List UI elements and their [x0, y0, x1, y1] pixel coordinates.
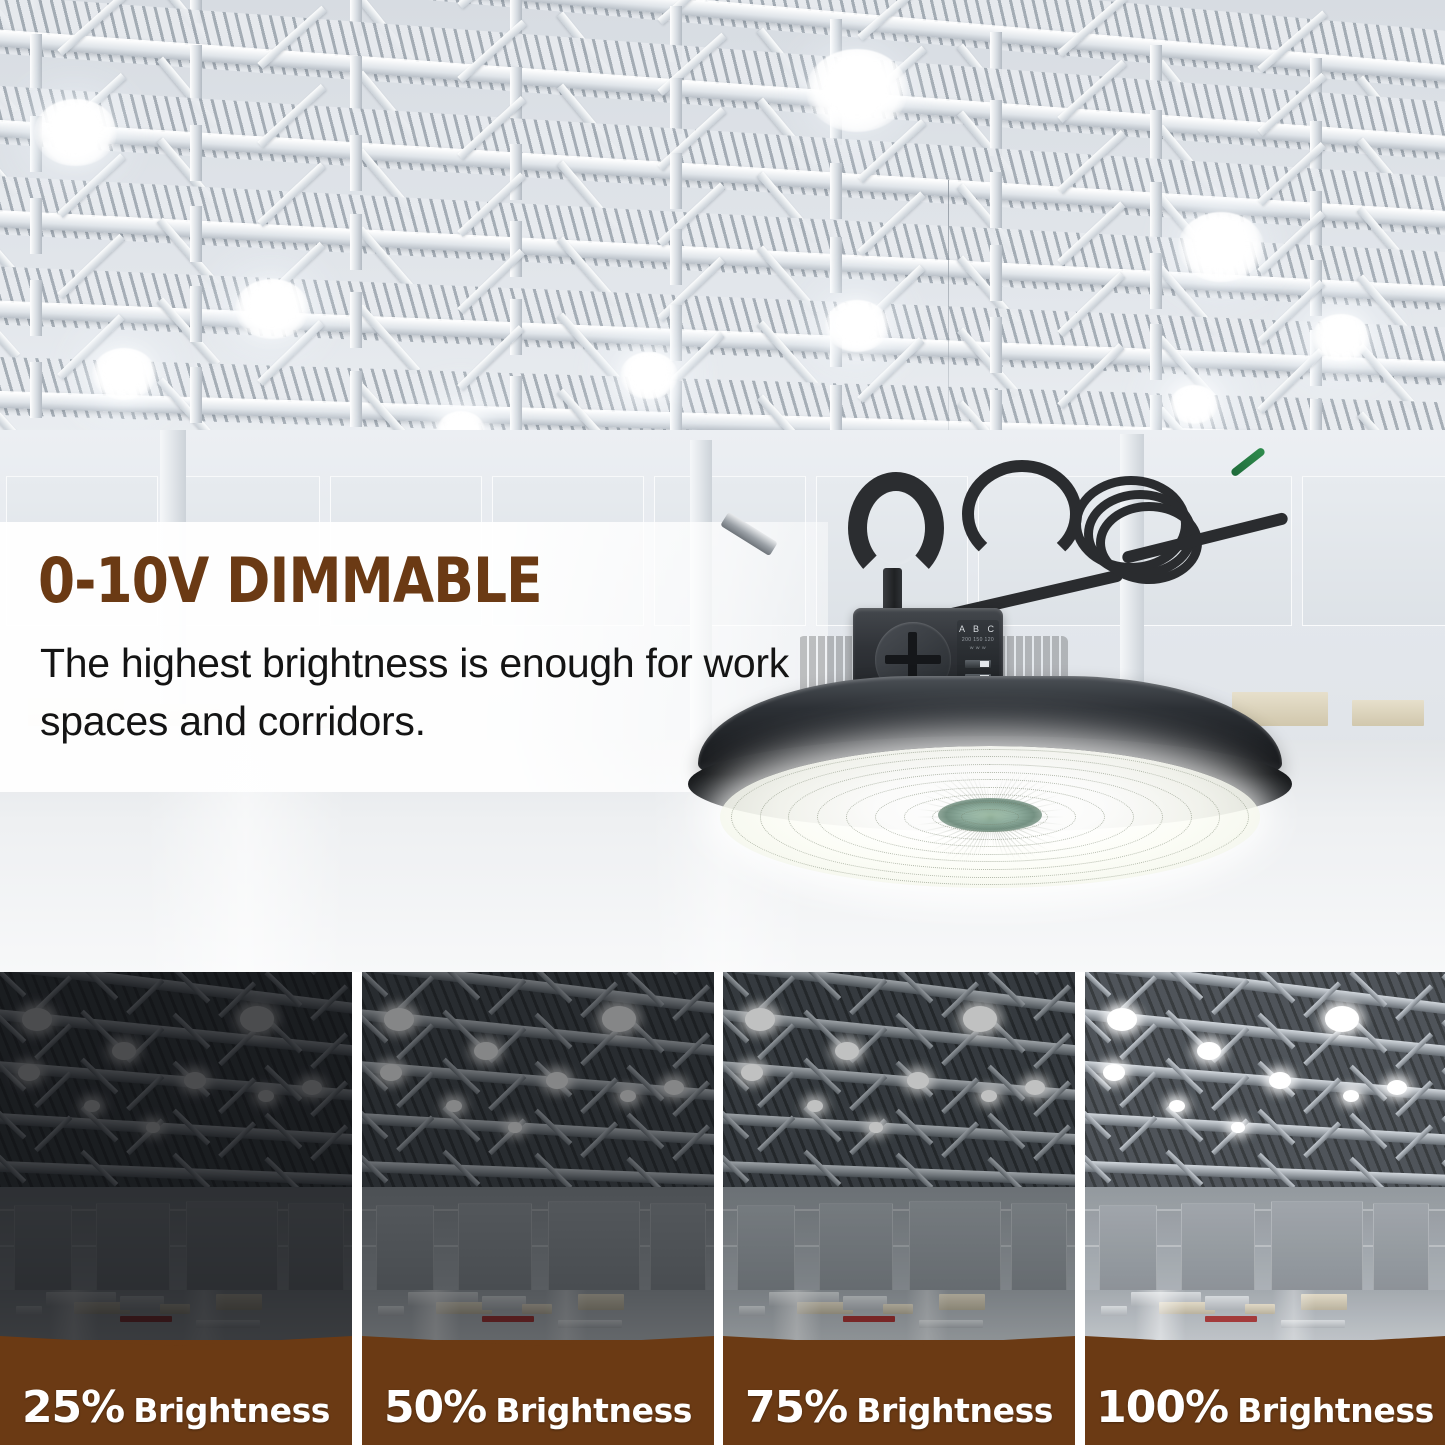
- scene-web: [0, 972, 26, 998]
- scene-pallet: [482, 1296, 526, 1310]
- scene-lamp: [1325, 1006, 1359, 1032]
- scene-pallet: [160, 1304, 190, 1314]
- truss-post: [30, 34, 42, 90]
- scene-pallet: [522, 1304, 552, 1314]
- scene-web: [723, 972, 749, 998]
- truss-post: [1150, 253, 1162, 309]
- lamp-glow: [620, 352, 678, 399]
- scene-lamp: [1231, 1122, 1245, 1133]
- scene-lamp: [258, 1090, 274, 1102]
- scene-lamp: [1107, 1008, 1137, 1031]
- scene-lamp: [184, 1072, 206, 1089]
- scene-lamp: [446, 1100, 462, 1112]
- brightness-label: Brightness: [856, 1391, 1053, 1430]
- scene-web: [1119, 975, 1157, 1012]
- scene-ceiling: [1085, 972, 1445, 1192]
- scene-pallet: [1159, 1302, 1215, 1314]
- warehouse-scene: [723, 972, 1075, 1372]
- scene-lamp: [602, 1006, 636, 1032]
- truss-post: [990, 317, 1002, 373]
- scene-lamp: [1025, 1080, 1045, 1095]
- scene-pallet: [843, 1316, 895, 1322]
- caption-bar: 100%Brightness: [1085, 1340, 1445, 1445]
- scene-pallet: [919, 1320, 983, 1328]
- scene-pallet: [408, 1292, 478, 1306]
- scene-pallet: [558, 1320, 622, 1328]
- scene-web: [34, 975, 72, 1012]
- scene-roller-door: [1099, 1205, 1157, 1291]
- scene-roller-door: [548, 1201, 640, 1291]
- scene-lamp: [240, 1006, 274, 1032]
- scene-lamp: [302, 1080, 322, 1095]
- scene-lamp: [84, 1100, 100, 1112]
- caption-notch: [1085, 1336, 1445, 1370]
- scene-pallet: [120, 1316, 172, 1322]
- truss-post: [350, 56, 362, 112]
- scene-lamp: [963, 1006, 997, 1032]
- scene-lamp: [907, 1072, 929, 1089]
- scene-roller-door: [650, 1203, 706, 1291]
- truss-post: [1150, 324, 1162, 380]
- truss-post: [830, 237, 842, 293]
- brightness-panel-25[interactable]: 25%Brightness: [0, 972, 352, 1445]
- truss-post: [190, 206, 202, 262]
- brightness-panel-75[interactable]: 75%Brightness: [723, 972, 1075, 1445]
- truss-post: [990, 100, 1002, 156]
- scene-pallet: [482, 1316, 534, 1322]
- scene-pallet: [1281, 1320, 1345, 1328]
- scene-lamp: [112, 1042, 136, 1060]
- truss-post: [670, 305, 682, 361]
- ground-wire-icon: [1230, 447, 1266, 478]
- truss-post: [30, 280, 42, 336]
- scene-lamp: [745, 1008, 775, 1031]
- caption-text: 25%Brightness: [0, 1382, 352, 1433]
- scene-lamp: [1197, 1042, 1221, 1060]
- lamp-glow: [1312, 314, 1370, 361]
- scene-pallet: [769, 1292, 839, 1306]
- scene-pallet: [46, 1292, 116, 1306]
- scene-pallet: [1205, 1296, 1249, 1310]
- scene-roller-door: [96, 1203, 170, 1291]
- warehouse-scene: [1085, 972, 1445, 1372]
- warehouse-scene: [362, 972, 714, 1372]
- truss-post: [350, 371, 362, 427]
- truss-post: [190, 286, 202, 342]
- truss-post: [990, 245, 1002, 301]
- dip-switch-voltage: 200 150 120: [957, 637, 999, 643]
- truss-post: [190, 367, 202, 423]
- scene-web: [1119, 1071, 1157, 1108]
- truss-post: [350, 135, 362, 191]
- brightness-percent: 25%: [22, 1382, 124, 1433]
- page-title: 0-10V DIMMABLE: [38, 550, 542, 612]
- scene-roller-door: [1011, 1203, 1067, 1291]
- scene-beam: [723, 1160, 1075, 1187]
- hero-warehouse-photo: 0-10V DIMMABLE The highest brightness is…: [0, 0, 1445, 972]
- lamp-glow: [806, 49, 908, 132]
- scene-ceiling: [362, 972, 714, 1192]
- scene-lamp: [807, 1100, 823, 1112]
- scene-pallet: [378, 1306, 404, 1316]
- scene-web: [672, 972, 710, 976]
- caption-bar: 75%Brightness: [723, 1340, 1075, 1445]
- truss-post: [670, 153, 682, 209]
- scene-roller-door: [1271, 1201, 1363, 1291]
- scene-pallet: [16, 1306, 42, 1316]
- lamp-glow: [825, 300, 889, 352]
- scene-roller-door: [819, 1203, 893, 1291]
- scene-web: [1085, 972, 1111, 998]
- scene-pallet: [797, 1302, 853, 1314]
- scene-pallet: [74, 1302, 130, 1314]
- scene-lamp: [981, 1090, 997, 1102]
- scene-web: [362, 972, 388, 998]
- dip-switch-watt: W W W: [957, 645, 999, 650]
- scene-roller-door: [376, 1205, 434, 1291]
- truss-post: [190, 125, 202, 181]
- wall-panel: [1302, 476, 1445, 626]
- scene-roller-door: [288, 1203, 344, 1291]
- brightness-label: Brightness: [1237, 1391, 1434, 1430]
- caption-bar: 50%Brightness: [362, 1340, 714, 1445]
- caption-notch: [362, 1336, 714, 1370]
- scene-pallet: [739, 1306, 765, 1316]
- scene-beam: [362, 1160, 714, 1187]
- warehouse-scene: [0, 972, 352, 1372]
- scene-web: [1395, 972, 1433, 976]
- caption-text: 75%Brightness: [723, 1382, 1075, 1433]
- scene-lamp: [1169, 1100, 1185, 1112]
- caption-bar: 25%Brightness: [0, 1340, 352, 1445]
- truss-post: [510, 376, 522, 432]
- caption-text: 100%Brightness: [1085, 1382, 1445, 1433]
- led-lens-array: [720, 746, 1260, 888]
- scene-pallet: [436, 1302, 492, 1314]
- scene-lamp: [474, 1042, 498, 1060]
- brightness-percent: 50%: [384, 1382, 486, 1433]
- scene-wall: [362, 1187, 714, 1292]
- lamp-glow: [1170, 385, 1218, 424]
- scene-ceiling: [723, 972, 1075, 1192]
- brightness-label: Brightness: [133, 1391, 330, 1430]
- truss-post: [1150, 182, 1162, 238]
- scene-wall: [723, 1187, 1075, 1292]
- scene-beam: [0, 1160, 352, 1187]
- caption-notch: [0, 1336, 352, 1370]
- scene-lamp: [664, 1080, 684, 1095]
- scene-roller-door: [1181, 1203, 1255, 1291]
- scene-lamp: [18, 1064, 40, 1081]
- scene-wall: [1085, 1187, 1445, 1292]
- scene-lamp: [1103, 1064, 1125, 1081]
- truss-post: [30, 362, 42, 418]
- scene-web: [310, 972, 348, 976]
- scene-roller-door: [458, 1203, 532, 1291]
- scene-pallet: [578, 1294, 624, 1310]
- hook-latch-icon: [720, 512, 778, 556]
- scene-pallet: [843, 1296, 887, 1310]
- scene-pallet: [120, 1296, 164, 1310]
- led-ring: [731, 749, 1249, 885]
- truss-post: [830, 163, 842, 219]
- lamp-glow: [92, 348, 156, 400]
- scene-pallet: [1301, 1294, 1347, 1310]
- scene-lamp: [1343, 1090, 1359, 1102]
- scene-lamp: [380, 1064, 402, 1081]
- lamp-glow: [34, 99, 117, 167]
- scene-ceiling: [0, 972, 352, 1192]
- scene-lamp: [620, 1090, 636, 1102]
- stored-pallet: [1352, 700, 1424, 726]
- lamp-glow: [1178, 212, 1264, 282]
- scene-pallet: [1131, 1292, 1201, 1306]
- scene-pallet: [216, 1294, 262, 1310]
- scene-lamp: [546, 1072, 568, 1089]
- truss-post: [990, 172, 1002, 228]
- brightness-percent: 75%: [745, 1382, 847, 1433]
- scene-lamp: [741, 1064, 763, 1081]
- dip-switch-columns: A B C: [957, 624, 999, 634]
- suspension-wire: [948, 180, 949, 460]
- scene-roller-door: [909, 1201, 1001, 1291]
- scene-lamp: [508, 1122, 522, 1133]
- scene-web: [757, 975, 795, 1012]
- led-high-bay-fixture: A B C 200 150 120 W W W: [680, 440, 1300, 940]
- scene-lamp: [1387, 1080, 1407, 1095]
- scene-lamp: [384, 1008, 414, 1031]
- scene-roller-door: [1373, 1203, 1429, 1291]
- scene-lamp: [869, 1122, 883, 1133]
- scene-pallet: [883, 1304, 913, 1314]
- scene-pallet: [1245, 1304, 1275, 1314]
- caption-notch: [723, 1336, 1075, 1370]
- lamp-glow: [235, 279, 309, 339]
- truss-post: [190, 45, 202, 101]
- brightness-percent: 100%: [1096, 1382, 1228, 1433]
- scene-lamp: [835, 1042, 859, 1060]
- scene-lamp: [146, 1122, 160, 1133]
- scene-beam: [1085, 1006, 1445, 1061]
- truss-post: [30, 198, 42, 254]
- scene-pallet: [1101, 1306, 1127, 1316]
- scene-roller-door: [14, 1205, 72, 1291]
- brightness-label: Brightness: [495, 1391, 692, 1430]
- scene-roller-door: [737, 1205, 795, 1291]
- scene-roller-door: [186, 1201, 278, 1291]
- brightness-panel-100[interactable]: 100%Brightness: [1085, 972, 1445, 1445]
- caption-text: 50%Brightness: [362, 1382, 714, 1433]
- power-cable-loop-icon: [962, 460, 1082, 568]
- dip-switch-toggle[interactable]: [965, 660, 991, 668]
- scene-pallet: [196, 1320, 260, 1328]
- truss-post: [670, 78, 682, 134]
- scene-pallet: [939, 1294, 985, 1310]
- brightness-comparison-strip: 25%Brightness 50%Brightness 75%Brightnes…: [0, 972, 1445, 1445]
- scene-web: [396, 975, 434, 1012]
- scene-lamp: [22, 1008, 52, 1031]
- scene-web: [1033, 972, 1071, 976]
- scene-pallet: [1205, 1316, 1257, 1322]
- scene-wall: [0, 1187, 352, 1292]
- product-feature-image: 0-10V DIMMABLE The highest brightness is…: [0, 0, 1445, 1445]
- truss-post: [350, 214, 362, 270]
- truss-post: [670, 229, 682, 285]
- brightness-panel-50[interactable]: 50%Brightness: [362, 972, 714, 1445]
- truss-post: [350, 292, 362, 348]
- scene-lamp: [1269, 1072, 1291, 1089]
